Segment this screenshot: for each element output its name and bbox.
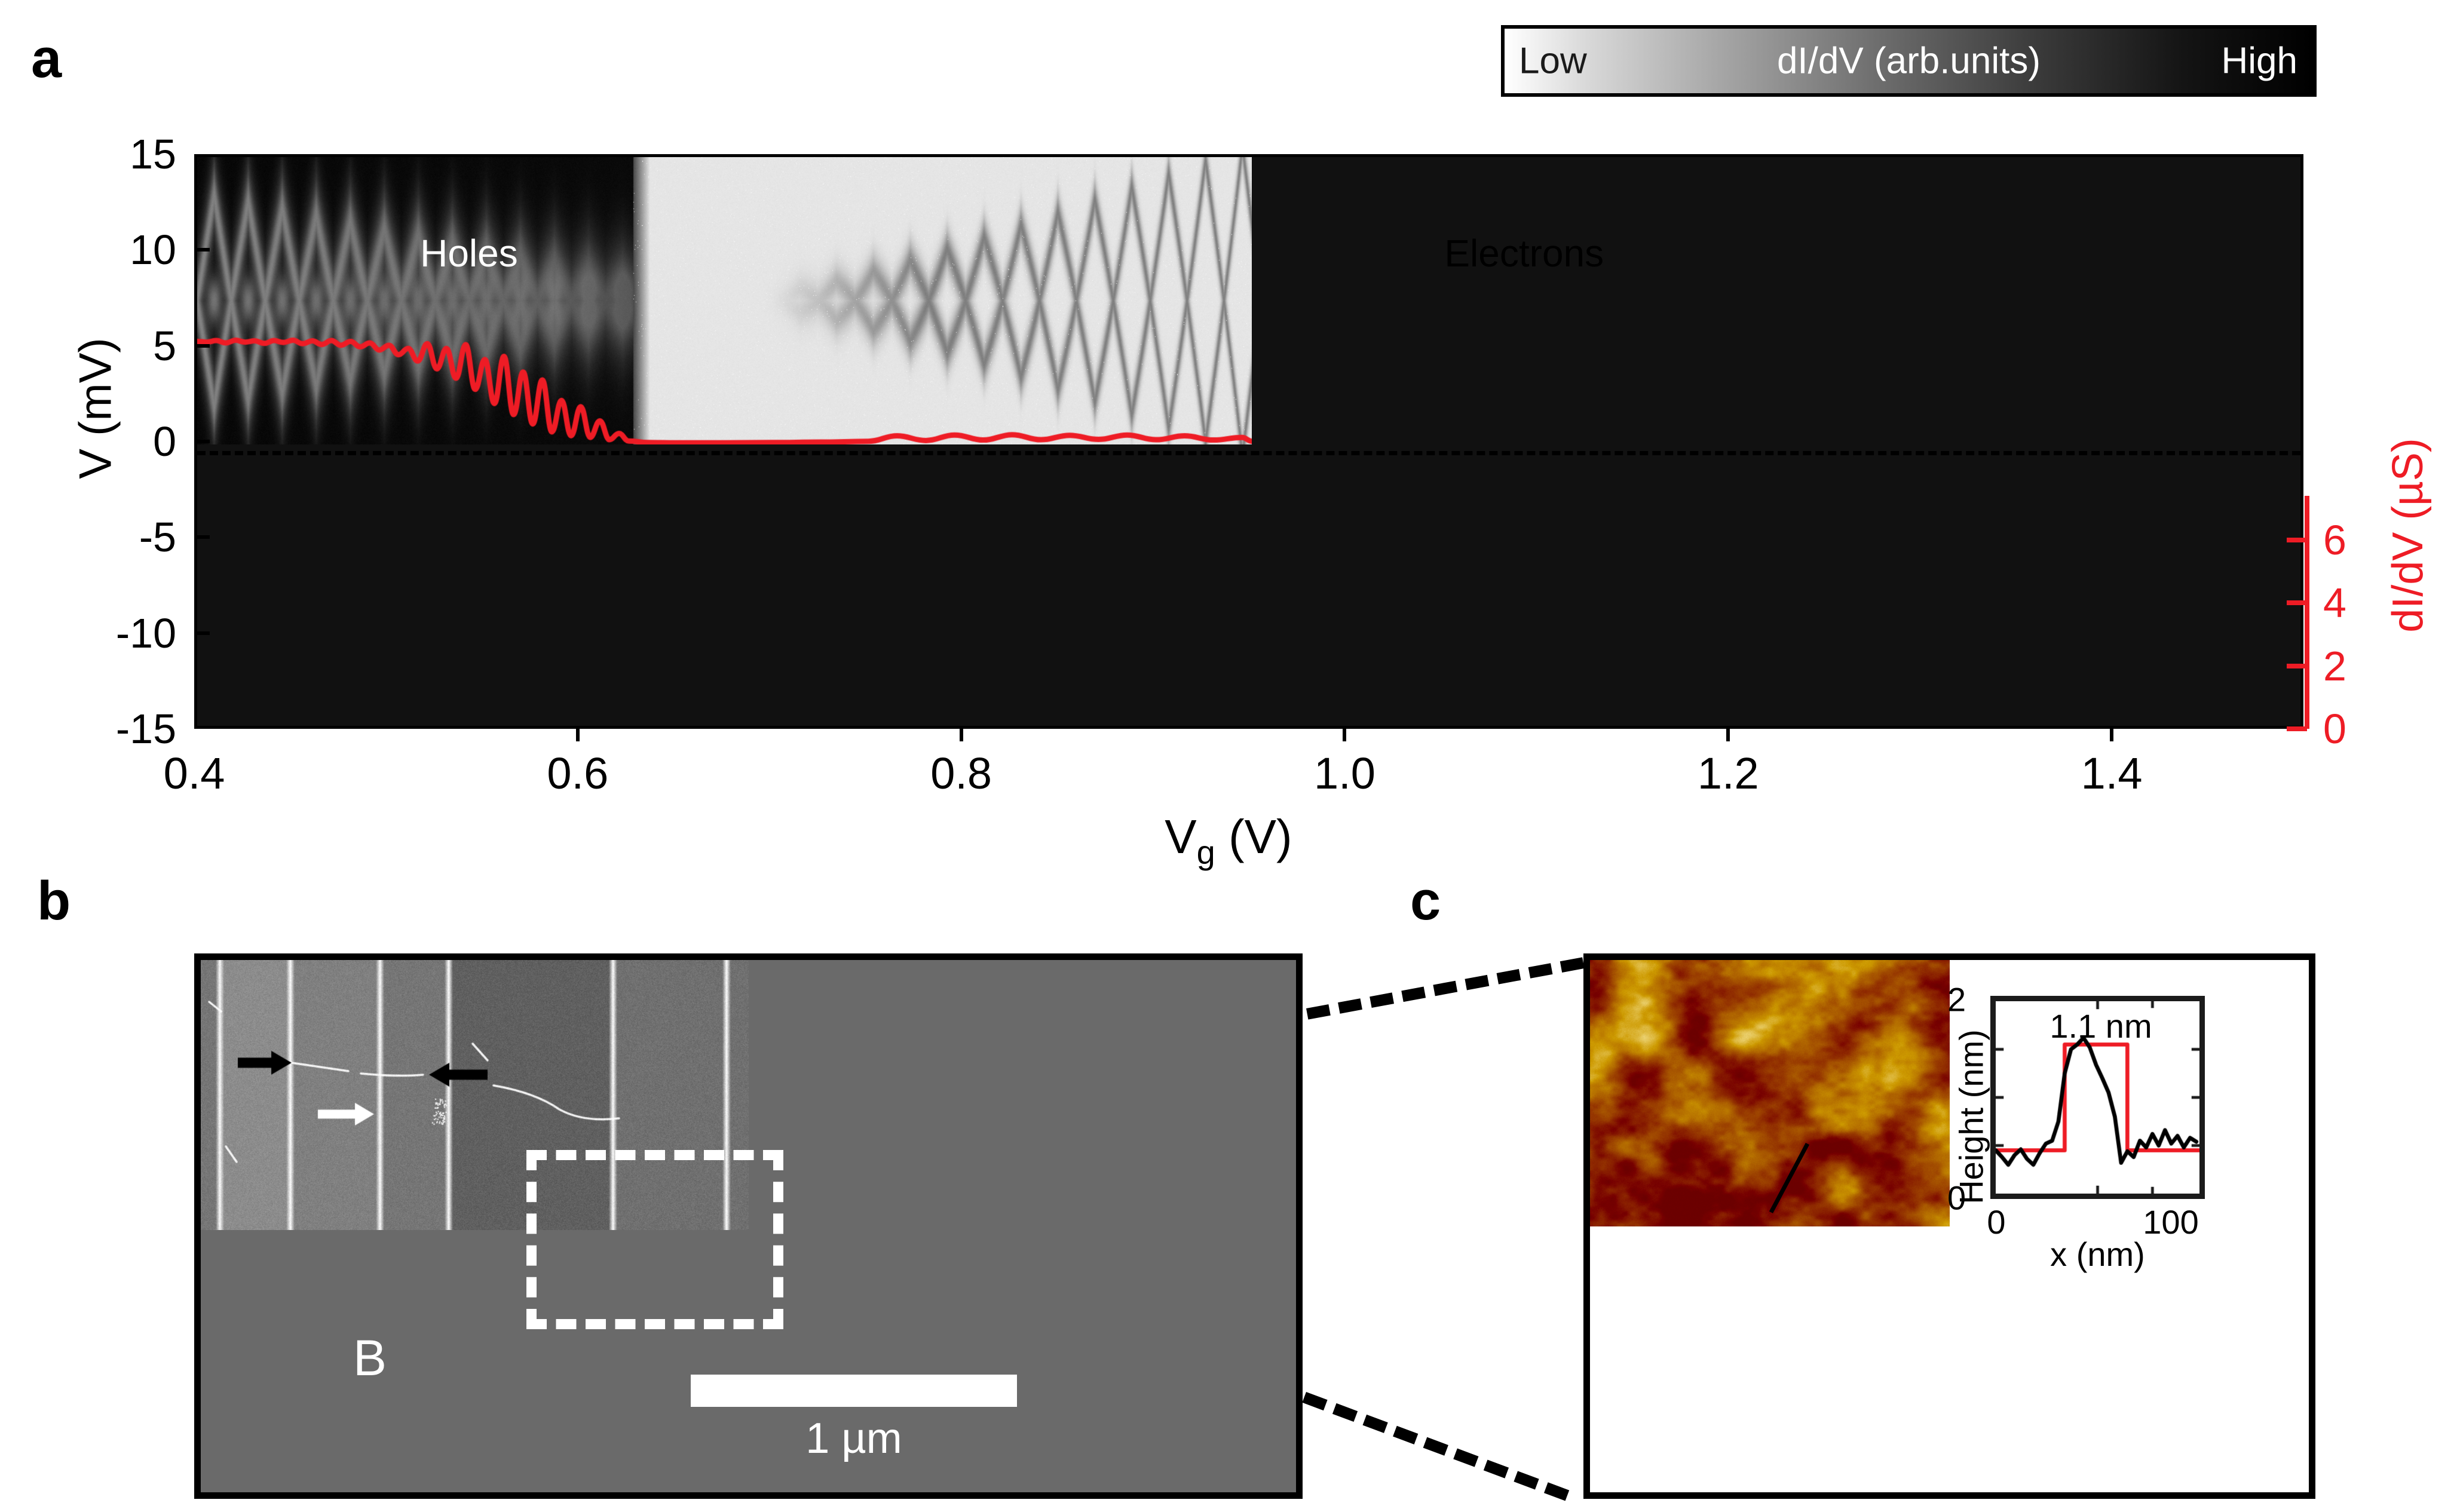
x-tick-mark [576,726,580,741]
colorbar-title: dI/dV (arb.units) [1777,40,2041,82]
panel-b-letter: b [37,873,71,928]
x-axis-title-unit: (V) [1215,810,1292,863]
y-tick-label: 5 [153,322,176,370]
magnetic-field-label: B [353,1329,387,1387]
zero-bias-dashed-line [197,451,2300,455]
y-tick-mark [194,344,210,348]
inset-title: 1.1 nm [2002,1007,2199,1045]
y-tick-mark [194,248,210,252]
x-axis-title-main: V [1165,810,1196,863]
x-tick-label: 1.4 [2081,748,2143,799]
y-tick-mark [194,535,210,539]
afm-image-panel: 200 nm 1.1 nm Height (nm) x (nm) 020100 [1583,953,2315,1499]
y-tick-label: -5 [139,513,176,561]
x-axis-title-subscript: g [1197,833,1215,871]
x-tick-label: 1.0 [1314,748,1375,799]
y-tick-label: -10 [116,609,176,657]
panel-a-letter: a [31,31,62,86]
sem-image-panel: B 1 µm [194,953,1303,1499]
x-tick-label: 0.8 [930,748,992,799]
colorbar-high-label: High [2221,40,2297,82]
scale-bar-label: 200 nm [1656,1357,1883,1405]
scale-bar [691,1375,1017,1407]
colorbar-legend: Low dI/dV (arb.units) High [1501,25,2317,97]
zoom-region-dashed-box [526,1150,783,1329]
coulomb-diamond-heatmap: Holes Electrons [194,154,2303,729]
right-axis-line [2305,496,2309,729]
x-tick-mark [1343,726,1346,741]
zoom-connector-top [1306,957,1585,1019]
right-axis-title: dI/dV (µS) [2384,398,2433,673]
right-tick-mark [2287,600,2307,605]
colorbar-low-label: Low [1519,40,1587,82]
right-tick-mark [2287,726,2307,731]
x-tick-label: 0.4 [164,748,225,799]
scale-bar [1677,1315,1856,1344]
x-tick-mark [960,726,963,741]
y-tick-label: 15 [130,130,176,178]
afm-canvas [1590,960,1950,1226]
linecut-overlay-canvas [197,157,1252,444]
height-profile-inset: 1.1 nm Height (nm) x (nm) 020100 [1913,972,2208,1283]
right-tick-label: 2 [2323,642,2346,690]
inset-x-tick-label: 0 [1987,1203,2005,1241]
inset-y-tick-label: 2 [1947,980,1966,1019]
inset-y-tick-label: 0 [1947,1179,1966,1217]
right-tick-label: 4 [2323,579,2346,627]
panel-c-letter: c [1410,873,1441,928]
x-tick-label: 1.2 [1698,748,1759,799]
y-axis-title: V (mV) [70,271,122,546]
x-tick-label: 0.6 [547,748,608,799]
right-tick-label: 0 [2323,705,2346,753]
y-tick-label: 10 [130,226,176,274]
y-tick-mark [194,631,210,635]
right-tick-label: 6 [2323,516,2346,564]
scale-bar-label: 1 µm [691,1414,1017,1463]
annotation-electrons: Electrons [1444,231,1604,275]
y-tick-label: -15 [116,705,176,753]
y-tick-label: 0 [153,418,176,465]
y-tick-mark [194,440,210,443]
right-tick-mark [2287,538,2307,542]
x-tick-mark [2110,726,2113,741]
annotation-holes: Holes [420,231,518,275]
zoom-connector-bottom [1302,1392,1569,1501]
right-tick-mark [2287,664,2307,668]
x-tick-mark [1726,726,1730,741]
x-axis-title: Vg (V) [0,809,2457,872]
inset-x-tick-label: 100 [2143,1203,2198,1241]
